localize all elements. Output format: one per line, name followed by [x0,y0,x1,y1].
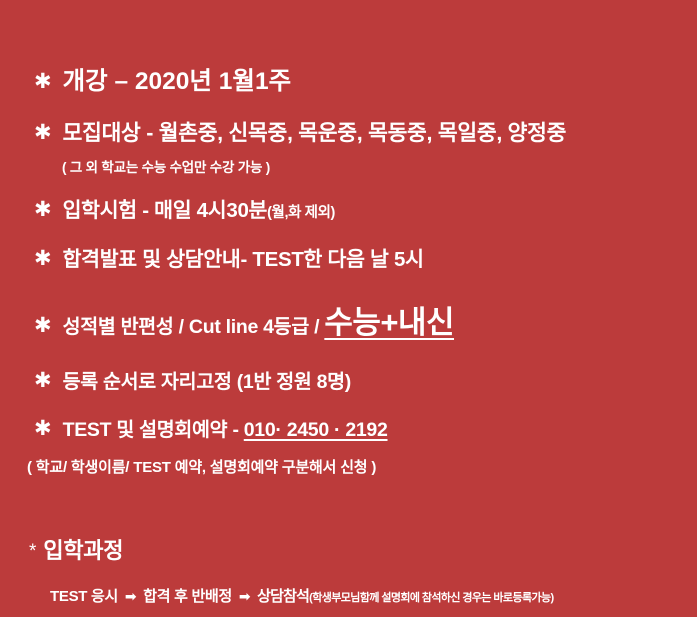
info-row-open-date: ✱ 개강 – 2020년 1월1주 [0,62,697,97]
process-flow-line-1: TEST 응시 ➡ 합격 후 반배정 ➡ 상담참석(학생부모님함께 설명회에 참… [0,585,697,606]
process-step-consultation-note: (학생부모님함께 설명회에 참석하신 경우는 바로등록가능) [309,592,553,604]
process-step-test: TEST 응시 [50,585,118,606]
asterisk-bullet-icon: ✱ [34,71,52,92]
reservation-note: ( 학교/ 학생이름/ TEST 예약, 설명회예약 구분해서 신청 ) [0,456,697,477]
class-placement-label: 성적별 반편성 / Cut line 4등급 / 수능+내신 [63,297,454,342]
seat-policy-label: 등록 순서로 자리고정 (1반 정원 8명) [63,365,351,394]
asterisk-bullet-icon: ✱ [34,122,52,143]
reservation-phone-number[interactable]: 010· 2450 · 2192 [244,419,388,441]
asterisk-bullet-icon: ✱ [34,370,52,391]
asterisk-bullet-icon: ✱ [34,315,52,336]
result-announcement-label: 합격발표 및 상담안내- TEST한 다음 날 5시 [63,242,424,272]
process-step-consultation: 상담참석 [257,585,309,606]
process-step-placement: 합격 후 반배정 [143,585,232,606]
promo-poster: ✱ 개강 – 2020년 1월1주 ✱ 모집대상 - 월촌중, 신목중, 목운중… [0,0,697,617]
target-schools-note: ( 그 외 학교는 수능 수업만 수강 가능 ) [0,156,697,176]
info-row-seat-policy: ✱ 등록 순서로 자리고정 (1반 정원 8명) [0,365,697,394]
process-section-title: * 입학과정 [0,533,697,565]
info-row-class-placement: ✱ 성적별 반편성 / Cut line 4등급 / 수능+내신 [0,297,697,342]
asterisk-bullet-icon: ✱ [34,199,52,220]
poster-content: ✱ 개강 – 2020년 1월1주 ✱ 모집대상 - 월촌중, 신목중, 목운중… [0,0,697,617]
info-row-entrance-exam: ✱ 입학시험 - 매일 4시30분(월,화 제외) [0,193,697,223]
open-date-label: 개강 – 2020년 1월1주 [63,62,292,97]
info-row-target-schools: ✱ 모집대상 - 월촌중, 신목중, 목운중, 목동중, 목일중, 양정중 [0,116,697,147]
info-row-result-announcement: ✱ 합격발표 및 상담안내- TEST한 다음 날 5시 [0,242,697,272]
process-title-label: 입학과정 [43,533,123,565]
asterisk-bullet-icon: ✱ [34,248,52,269]
arrow-right-icon: ➡ [122,588,139,604]
target-schools-label: 모집대상 - 월촌중, 신목중, 목운중, 목동중, 목일중, 양정중 [63,116,567,147]
reservation-label: TEST 및 설명회예약 - 010· 2450 · 2192 [63,413,388,442]
entrance-exam-exception: (월,화 제외) [267,205,335,221]
info-row-reservation: ✱ TEST 및 설명회예약 - 010· 2450 · 2192 [0,413,697,442]
arrow-right-icon: ➡ [236,588,253,604]
asterisk-bullet-icon: ✱ [34,418,52,439]
entrance-exam-label: 입학시험 - 매일 4시30분(월,화 제외) [63,193,335,223]
class-placement-accent: 수능+내신 [324,305,454,340]
asterisk-bullet-icon: * [29,542,36,561]
